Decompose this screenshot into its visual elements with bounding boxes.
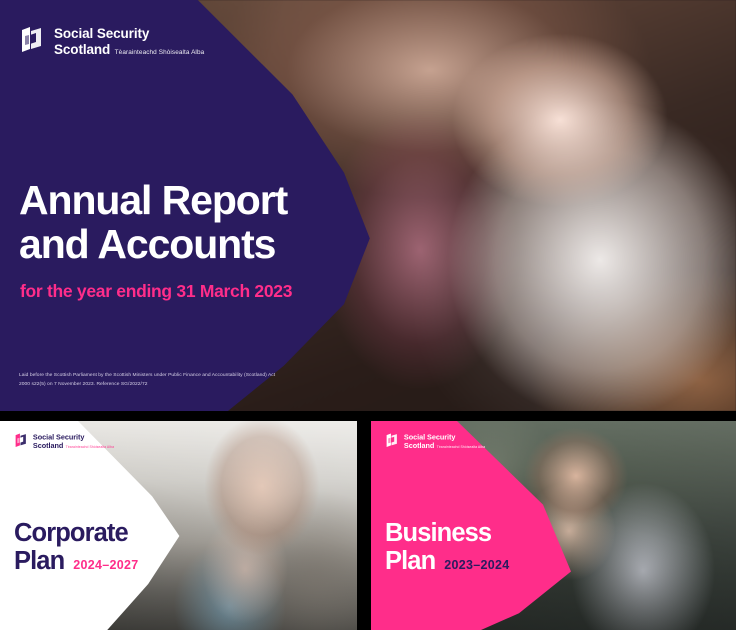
logo-wordmark: Social Security Scotland Tèarainteachd S… (33, 433, 114, 451)
business-plan-title-line-1: Business (385, 519, 510, 547)
logo-gaelic: Tèarainteachd Shòisealta Alba (115, 49, 205, 56)
social-security-scotland-logo-mark (385, 433, 399, 452)
logo[interactable]: Social Security Scotland Tèarainteachd S… (14, 433, 114, 452)
social-security-scotland-logo-mark (14, 433, 28, 452)
logo-gaelic: Tèarainteachd Shòisealta Alba (66, 446, 114, 450)
corporate-plan-title-line-2: Plan (14, 547, 64, 575)
publications-montage: Social Security Scotland Tèarainteachd S… (0, 0, 736, 630)
logo[interactable]: Social Security Scotland Tèarainteachd S… (19, 26, 204, 61)
annual-report-cover[interactable]: Social Security Scotland Tèarainteachd S… (0, 0, 736, 411)
logo-line-2: Scotland (404, 442, 434, 450)
business-plan-cover[interactable]: Social Security Scotland Tèarainteachd S… (371, 421, 736, 630)
logo-gaelic: Tèarainteachd Shòisealta Alba (437, 446, 485, 450)
business-plan-years: 2023–2024 (444, 558, 509, 572)
corporate-plan-title-line-1: Corporate (14, 519, 139, 547)
logo-wordmark: Social Security Scotland Tèarainteachd S… (404, 433, 485, 451)
corporate-plan-years: 2024–2027 (73, 558, 138, 572)
plan-cards-row: Social Security Scotland Tèarainteachd S… (0, 421, 736, 630)
logo-line-1: Social Security (404, 433, 455, 441)
cover-legal-text: Laid before the Scottish Parliament by t… (19, 371, 281, 389)
social-security-scotland-logo-mark (19, 26, 45, 61)
logo-line-2: Scotland (33, 442, 63, 450)
business-plan-title: Business Plan 2023–2024 (385, 519, 510, 575)
corporate-plan-cover[interactable]: Social Security Scotland Tèarainteachd S… (0, 421, 357, 630)
logo-line-2: Scotland (54, 42, 110, 57)
cover-title-line-2: and Accounts (19, 221, 275, 267)
cover-title: Annual Report and Accounts (19, 178, 287, 267)
logo-line-1: Social Security (54, 26, 149, 41)
cover-subtitle: for the year ending 31 March 2023 (20, 281, 292, 302)
cover-title-line-1: Annual Report (19, 177, 287, 223)
logo-wordmark: Social Security Scotland Tèarainteachd S… (54, 26, 204, 59)
logo[interactable]: Social Security Scotland Tèarainteachd S… (385, 433, 485, 452)
business-plan-title-line-2: Plan (385, 547, 435, 575)
corporate-plan-title: Corporate Plan 2024–2027 (14, 519, 139, 575)
logo-line-1: Social Security (33, 433, 84, 441)
